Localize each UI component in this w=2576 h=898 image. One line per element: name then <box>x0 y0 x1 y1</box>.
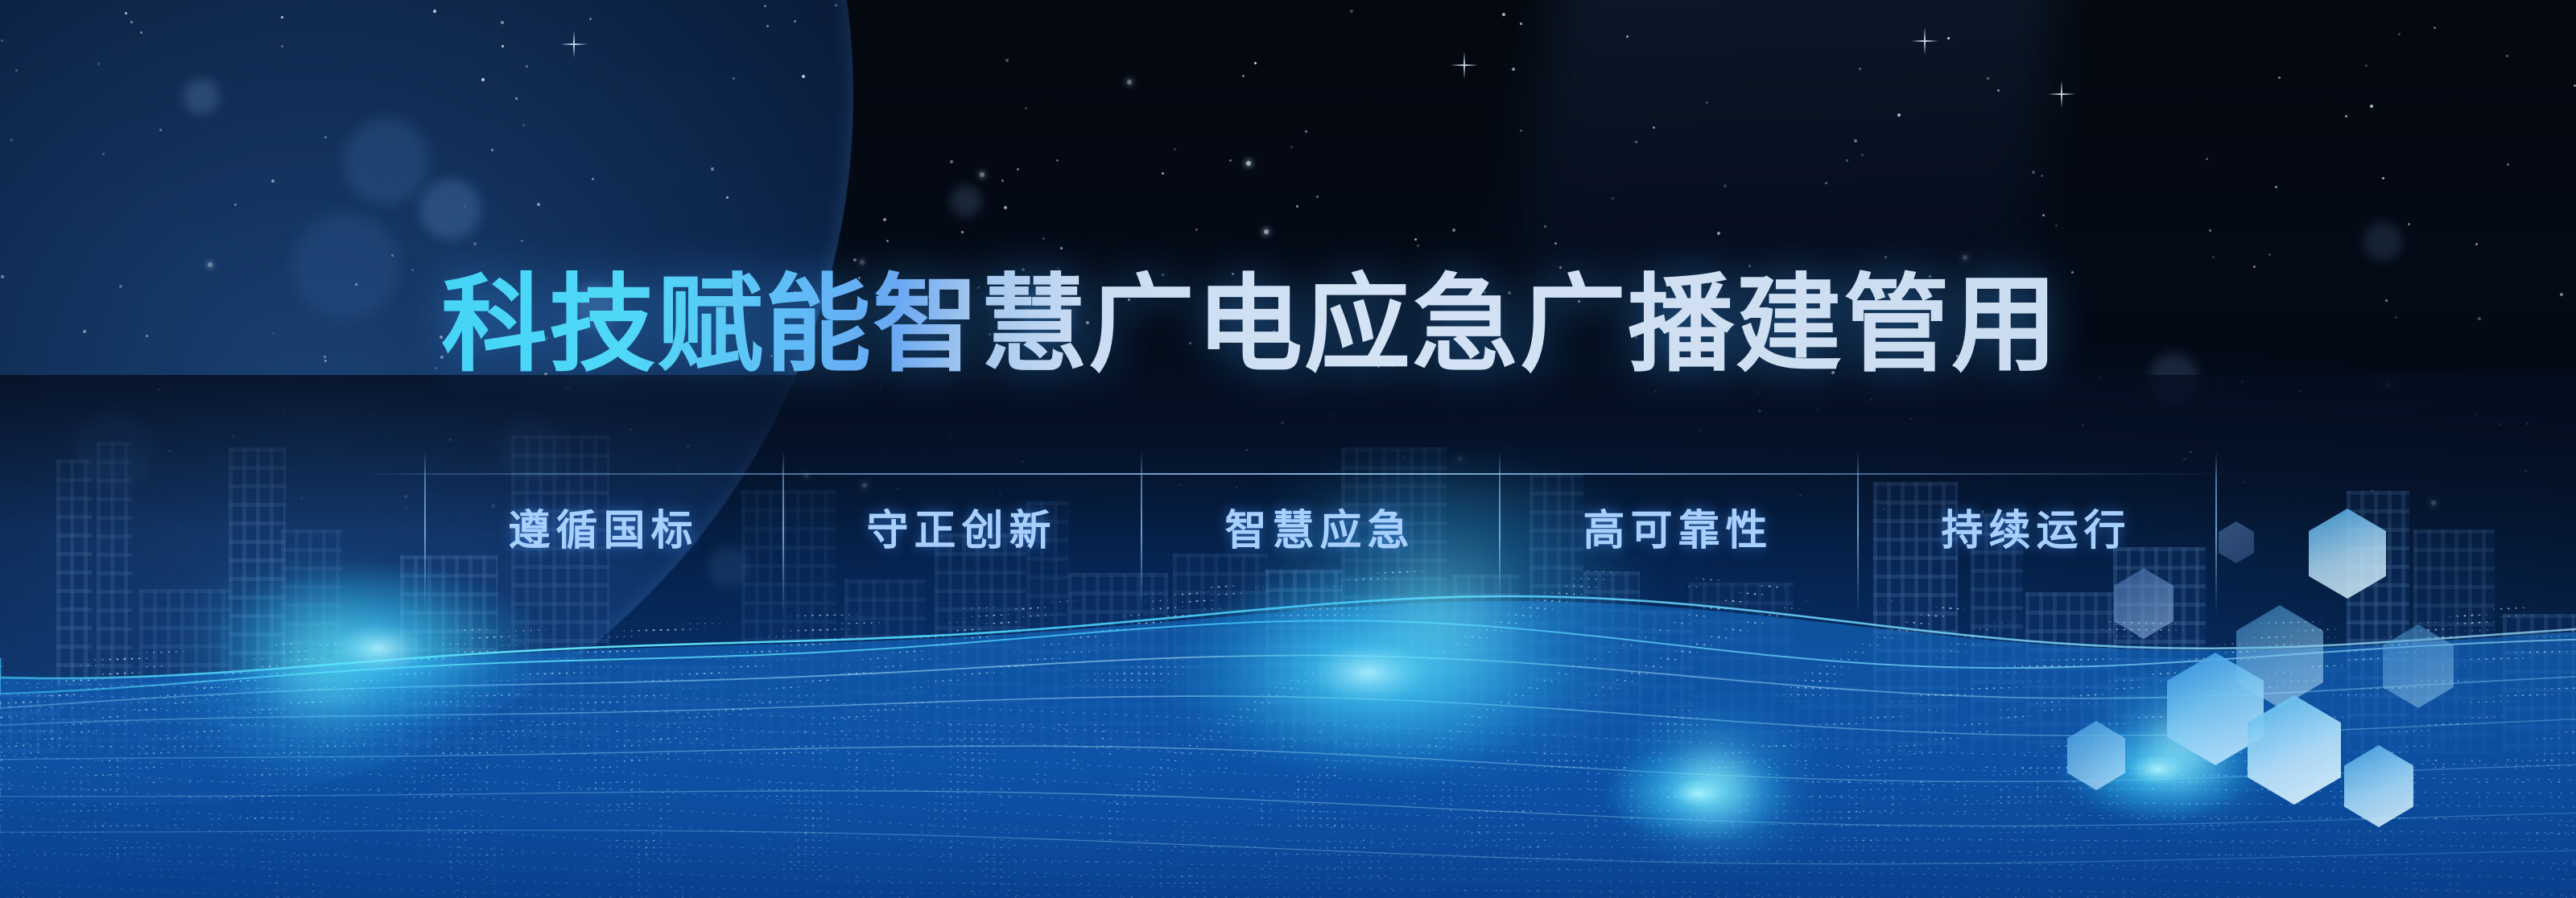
star-icon <box>2434 27 2436 29</box>
star-icon <box>2041 175 2043 177</box>
star-icon <box>835 4 837 6</box>
star-icon <box>1242 75 1245 77</box>
star-icon <box>1174 148 1176 150</box>
star-icon <box>1635 141 1637 143</box>
tag-item-1[interactable]: 遵循国标 <box>424 481 782 582</box>
tag-item-3[interactable]: 智慧应急 <box>1141 481 1499 582</box>
star-icon <box>15 69 18 72</box>
star-icon <box>411 269 414 271</box>
star-icon <box>2055 224 2058 227</box>
tag-item-2[interactable]: 守正创新 <box>782 481 1141 582</box>
tag-bar: 遵循国标守正创新智慧应急高可靠性持续运行 <box>424 481 2215 582</box>
star-icon <box>2506 55 2508 57</box>
sparkle-star-icon <box>1463 51 1465 79</box>
star-icon <box>97 63 100 65</box>
star-icon <box>1229 159 1232 162</box>
tag-divider-5 <box>2215 451 2217 616</box>
star-icon <box>2385 299 2388 302</box>
star-icon <box>726 196 729 199</box>
star-icon <box>1612 197 1614 200</box>
star-icon <box>733 77 735 80</box>
wave-hotspot <box>209 561 547 736</box>
star-icon <box>1162 172 1164 175</box>
bokeh-orb <box>181 76 221 117</box>
star-icon <box>1060 247 1063 249</box>
star-icon <box>1897 113 1901 117</box>
star-icon <box>1997 89 2000 92</box>
star-icon <box>1885 256 1887 258</box>
hexagon-icon <box>2219 521 2254 563</box>
star-icon <box>502 45 504 47</box>
star-icon <box>1502 13 1505 16</box>
star-icon <box>2395 316 2397 319</box>
star-icon <box>501 21 504 24</box>
star-icon <box>2370 105 2373 108</box>
star-icon <box>1195 229 1198 231</box>
star-icon <box>2206 158 2208 160</box>
star-icon <box>515 97 518 100</box>
star-icon <box>853 258 857 262</box>
star-icon <box>2253 266 2256 268</box>
star-icon <box>1520 130 1522 132</box>
hexagon-icon <box>2344 745 2413 827</box>
star-icon <box>1264 229 1269 234</box>
star-icon <box>2212 256 2215 258</box>
star-icon <box>537 203 540 206</box>
hexagon-icon <box>2309 509 2386 599</box>
star-icon <box>2398 33 2401 35</box>
star-icon <box>802 75 805 78</box>
star-icon <box>433 10 436 13</box>
star-icon <box>1825 182 1827 184</box>
star-icon <box>961 231 964 233</box>
bokeh-orb <box>948 183 984 219</box>
star-icon <box>102 153 105 155</box>
tag-item-4[interactable]: 高可靠性 <box>1499 481 1857 582</box>
star-icon <box>2278 76 2281 79</box>
star-icon <box>2478 317 2481 320</box>
star-icon <box>950 160 953 163</box>
star-icon <box>1414 238 1417 241</box>
hexagon-icon <box>2383 624 2454 708</box>
star-icon <box>146 335 148 337</box>
horizontal-divider <box>362 473 2238 475</box>
sparkle-star-icon <box>573 31 575 58</box>
star-icon <box>271 179 275 183</box>
wave-hotspot <box>1602 744 1795 844</box>
wave-hotspot <box>1159 564 1578 781</box>
star-icon <box>522 124 525 126</box>
page-title: 科技赋能智慧广电应急广播建管用 <box>441 266 2132 385</box>
star-icon <box>272 332 275 335</box>
star-icon <box>281 45 283 47</box>
star-icon <box>521 240 523 242</box>
star-icon <box>2268 253 2271 256</box>
sparkle-star-icon <box>1924 27 1926 55</box>
star-icon <box>1626 35 1629 38</box>
star-icon <box>883 218 886 221</box>
star-icon <box>589 18 592 20</box>
banner-stage: 科技赋能智慧广电应急广播建管用 遵循国标守正创新智慧应急高可靠性持续运行 <box>0 0 2576 898</box>
star-icon <box>1 275 4 278</box>
star-icon <box>2042 214 2045 216</box>
sparkle-star-icon <box>2061 80 2062 108</box>
bokeh-orb <box>286 205 407 326</box>
bokeh-orb <box>2361 220 2405 263</box>
hexagon-icon <box>2067 721 2125 790</box>
bokeh-orb <box>338 113 435 209</box>
star-icon <box>1987 77 1989 80</box>
tag-item-5[interactable]: 持续运行 <box>1857 481 2215 582</box>
star-icon <box>2345 115 2347 117</box>
star-icon <box>1246 161 1251 166</box>
star-icon <box>234 204 237 206</box>
star-icon <box>10 138 13 142</box>
star-icon <box>1512 68 1515 71</box>
star-icon <box>1947 37 1950 39</box>
